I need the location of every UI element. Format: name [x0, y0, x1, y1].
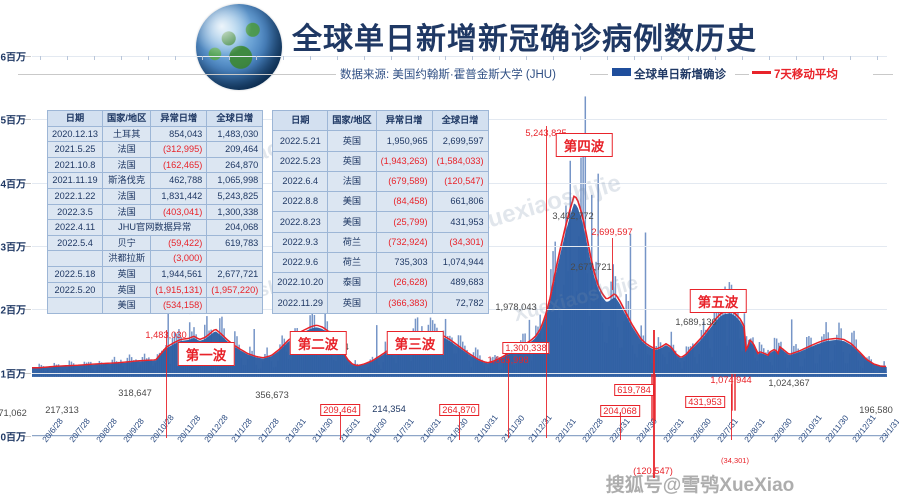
- table-row: 2022.8.23美国(25,799)431,953: [273, 212, 488, 232]
- cell-global: (1,584,033): [432, 151, 488, 171]
- cell-country: 英国: [328, 131, 376, 151]
- cell-country: 斯洛伐克: [102, 173, 150, 189]
- annotation-leader-line: [620, 412, 621, 440]
- data-annotation: 1,300,338: [502, 342, 549, 354]
- data-annotation: 214,354: [370, 404, 408, 414]
- cell-abnormal: (403,041): [151, 204, 207, 220]
- cell-country: 泰国: [328, 273, 376, 293]
- cell-abnormal: 1,944,561: [151, 266, 207, 282]
- cell-date: 2022.10.20: [273, 273, 328, 293]
- x-axis-tick: [472, 56, 473, 60]
- table-row: 洪都拉斯(3,000): [48, 251, 263, 267]
- table-row: 2022.1.22法国1,831,4425,243,825: [48, 188, 263, 204]
- x-axis-tick: [499, 56, 500, 60]
- y-axis-label: 1百万: [0, 365, 26, 380]
- data-annotation: 217,313: [45, 405, 79, 415]
- cell-abnormal: (3,000): [151, 251, 207, 267]
- cell-abnormal: 1,950,965: [376, 131, 432, 151]
- cell-country: 英国: [102, 266, 150, 282]
- table-row: 2022.10.20泰国(26,628)489,683: [273, 273, 488, 293]
- data-annotation: 196,580: [859, 405, 893, 415]
- annotation-leader-line: [459, 412, 460, 440]
- y-axis-label: 2百万: [0, 302, 26, 317]
- annotation-leader-line: [508, 358, 509, 438]
- cell-country: 法国: [102, 157, 150, 173]
- annotation-leader-line: [340, 412, 341, 440]
- cell-date: 2022.8.8: [273, 192, 328, 212]
- cell-country: 美国: [102, 298, 150, 314]
- data-annotation: 1,689,130: [675, 317, 716, 327]
- x-axis-tick: [580, 56, 581, 60]
- cell-abnormal: (366,383): [376, 293, 432, 313]
- data-annotation: 431,953: [685, 396, 725, 408]
- cell-abnormal: (312,995): [151, 142, 207, 158]
- x-axis-tick: [634, 56, 635, 60]
- cell-date: [48, 298, 103, 314]
- table-row: 2022.9.3荷兰(732,924)(34,301): [273, 232, 488, 252]
- table-row: 2022.5.20英国(1,915,131)(1,957,220): [48, 282, 263, 298]
- cell-abnormal: 735,303: [376, 252, 432, 272]
- table-row: 2022.5.4贝宁(59,422)619,783: [48, 235, 263, 251]
- cell-global: 264,870: [207, 157, 263, 173]
- cell-abnormal: (26,628): [376, 273, 432, 293]
- cell-date: 2022.5.23: [273, 151, 328, 171]
- table-header-row: 日期国家/地区异常日增全球日增: [273, 111, 488, 131]
- cell-country: 荷兰: [328, 232, 376, 252]
- cell-global: 1,300,338: [207, 204, 263, 220]
- cell-abnormal: (732,924): [376, 232, 432, 252]
- table-header-cell: 异常日增: [376, 111, 432, 131]
- data-annotation: 3,402,772: [552, 211, 593, 221]
- cell-date: 2022.8.23: [273, 212, 328, 232]
- data-annotation: 2,699,597: [591, 227, 632, 237]
- y-axis-label: 6百万: [0, 49, 26, 64]
- cell-date: 2022.11.29: [273, 293, 328, 313]
- cell-global: (34,301): [432, 232, 488, 252]
- wave-marker: 第五波: [690, 289, 747, 313]
- cell-country: 法国: [102, 142, 150, 158]
- annotation-leader-line: [546, 126, 547, 438]
- x-axis-tick: [40, 56, 41, 60]
- x-axis-tick: [283, 56, 284, 60]
- page-title: 全球单日新增新冠确诊病例数历史: [292, 14, 757, 58]
- cell-abnormal: (679,589): [376, 171, 432, 191]
- cell-abnormal: (1,943,263): [376, 151, 432, 171]
- cell-global: 209,464: [207, 142, 263, 158]
- gridline: [32, 56, 887, 57]
- x-axis-tick: [823, 56, 824, 60]
- wave-marker: 第四波: [556, 133, 613, 157]
- table-header-row: 日期国家/地区异常日增全球日增: [48, 111, 263, 127]
- table-row: 2022.11.29英国(366,383)72,782: [273, 293, 488, 313]
- cell-date: [48, 251, 103, 267]
- table-header-cell: 全球日增: [207, 111, 263, 127]
- cell-country: 法国: [102, 204, 150, 220]
- x-axis-tick: [175, 56, 176, 60]
- y-axis-label: 5百万: [0, 112, 26, 127]
- cell-abnormal: (25,799): [376, 212, 432, 232]
- cell-global: 5,243,825: [207, 188, 263, 204]
- cell-date: 2022.6.4: [273, 171, 328, 191]
- cell-global: 1,483,030: [207, 126, 263, 142]
- x-axis-tick: [769, 56, 770, 60]
- anomaly-tables: 日期国家/地区异常日增全球日增2020.12.13土耳其854,0431,483…: [47, 110, 489, 314]
- data-annotation: 1,024,367: [768, 378, 809, 388]
- cell-abnormal: (84,458): [376, 192, 432, 212]
- x-axis-tick: [688, 56, 689, 60]
- cell-country: 法国: [328, 171, 376, 191]
- cell-country: 美国: [328, 212, 376, 232]
- table-header-cell: 日期: [273, 111, 328, 131]
- cell-abnormal: 854,043: [151, 126, 207, 142]
- cell-abnormal: (59,422): [151, 235, 207, 251]
- x-axis-tick: [310, 56, 311, 60]
- x-axis-tick: [418, 56, 419, 60]
- cell-date: 2021.11.19: [48, 173, 103, 189]
- data-annotation: 356,673: [255, 390, 289, 400]
- cell-global: 2,677,721: [207, 266, 263, 282]
- cell-abnormal: (1,915,131): [151, 282, 207, 298]
- annotation-leader-line: [166, 330, 167, 438]
- cell-country: 美国: [328, 192, 376, 212]
- anomaly-table-left: 日期国家/地区异常日增全球日增2020.12.13土耳其854,0431,483…: [47, 110, 263, 314]
- y-axis-label: 3百万: [0, 239, 26, 254]
- wave-marker: 第二波: [290, 331, 347, 355]
- cell-note: JHU官网数据异常: [102, 220, 206, 236]
- data-annotation: 171,062: [0, 408, 27, 418]
- table-row: 2022.6.4法国(679,589)(120,547): [273, 171, 488, 191]
- cell-global: 1,065,998: [207, 173, 263, 189]
- cell-country: 法国: [102, 188, 150, 204]
- cell-date: 2022.9.3: [273, 232, 328, 252]
- cell-country: 英国: [102, 282, 150, 298]
- table-header-cell: 国家/地区: [328, 111, 376, 131]
- x-axis-tick: [94, 56, 95, 60]
- y-axis-label: 4百万: [0, 175, 26, 190]
- cell-date: 2021.10.8: [48, 157, 103, 173]
- cell-date: 2022.5.4: [48, 235, 103, 251]
- cell-global: (1,957,220): [207, 282, 263, 298]
- x-axis-tick: [607, 56, 608, 60]
- table-row: 2021.10.8法国(162,465)264,870: [48, 157, 263, 173]
- cell-date: 2022.9.6: [273, 252, 328, 272]
- table-row: 2022.5.23英国(1,943,263)(1,584,033): [273, 151, 488, 171]
- table-header-cell: 异常日增: [151, 111, 207, 127]
- table-row: 2022.4.11JHU官网数据异常204,068: [48, 220, 263, 236]
- cell-date: 2022.4.11: [48, 220, 103, 236]
- annotation-leader-line: [731, 384, 732, 440]
- cell-country: 贝宁: [102, 235, 150, 251]
- table-row: 2022.5.18英国1,944,5612,677,721: [48, 266, 263, 282]
- cell-abnormal: 462,788: [151, 173, 207, 189]
- cell-date: 2020.12.13: [48, 126, 103, 142]
- table-row: 2021.5.25法国(312,995)209,464: [48, 142, 263, 158]
- cell-country: 英国: [328, 293, 376, 313]
- table-row: 美国(534,158): [48, 298, 263, 314]
- x-axis-tick: [796, 56, 797, 60]
- cell-country: 英国: [328, 151, 376, 171]
- table-row: 2022.9.6荷兰735,3031,074,944: [273, 252, 488, 272]
- table-row: 2020.12.13土耳其854,0431,483,030: [48, 126, 263, 142]
- cell-date: 2022.1.22: [48, 188, 103, 204]
- x-axis-tick: [202, 56, 203, 60]
- x-axis-tick: [526, 56, 527, 60]
- y-axis-label: 0百万: [0, 429, 26, 444]
- x-axis-tick: [364, 56, 365, 60]
- cell-abnormal: (162,465): [151, 157, 207, 173]
- cell-global: 1,074,944: [432, 252, 488, 272]
- x-axis-tick: [148, 56, 149, 60]
- cell-global: [207, 298, 263, 314]
- cell-global: 489,683: [432, 273, 488, 293]
- cell-date: 2022.5.20: [48, 282, 103, 298]
- cell-date: 2022.5.18: [48, 266, 103, 282]
- table-row: 2021.11.19斯洛伐克462,7881,065,998: [48, 173, 263, 189]
- data-annotation: 1,978,043: [495, 302, 536, 312]
- anomaly-table-right: 日期国家/地区异常日增全球日增2022.5.21英国1,950,9652,699…: [272, 110, 488, 314]
- x-axis-tick: [256, 56, 257, 60]
- data-annotation: 619,784: [614, 384, 654, 396]
- x-axis-tick: [391, 56, 392, 60]
- cell-country: 荷兰: [328, 252, 376, 272]
- x-axis-tick: [67, 56, 68, 60]
- cell-date: 2022.5.21: [273, 131, 328, 151]
- x-axis-tick: [445, 56, 446, 60]
- x-axis-tick: [121, 56, 122, 60]
- cell-abnormal: (534,158): [151, 298, 207, 314]
- cell-country: 洪都拉斯: [102, 251, 150, 267]
- x-axis-tick: [877, 56, 878, 60]
- annotation-leader-line: [654, 330, 655, 478]
- wave-marker: 第三波: [387, 331, 444, 355]
- table-header-cell: 全球日增: [432, 111, 488, 131]
- cell-global: 431,953: [432, 212, 488, 232]
- annotation-leader-line: [612, 238, 613, 290]
- cell-abnormal: 1,831,442: [151, 188, 207, 204]
- data-annotation: (34,301): [721, 456, 749, 465]
- table-row: 2022.8.8美国(84,458)661,806: [273, 192, 488, 212]
- cell-global: 661,806: [432, 192, 488, 212]
- cell-global: 72,782: [432, 293, 488, 313]
- cell-date: 2021.5.25: [48, 142, 103, 158]
- x-axis-tick: [553, 56, 554, 60]
- table-header-cell: 日期: [48, 111, 103, 127]
- data-annotation: 318,647: [118, 388, 152, 398]
- table-row: 2022.5.21英国1,950,9652,699,597: [273, 131, 488, 151]
- x-axis-tick: [715, 56, 716, 60]
- cell-country: 土耳其: [102, 126, 150, 142]
- x-axis-tick: [661, 56, 662, 60]
- x-axis-tick: [229, 56, 230, 60]
- cell-date: 2022.3.5: [48, 204, 103, 220]
- x-axis-tick: [850, 56, 851, 60]
- x-axis-tick: [742, 56, 743, 60]
- cell-global: 619,783: [207, 235, 263, 251]
- table-header-cell: 国家/地区: [102, 111, 150, 127]
- x-axis-tick: [337, 56, 338, 60]
- cell-global: [207, 251, 263, 267]
- gridline: [32, 373, 887, 374]
- cell-global: (120,547): [432, 171, 488, 191]
- data-annotation: 2,677,721: [570, 262, 611, 272]
- cell-global: 204,068: [207, 220, 263, 236]
- table-row: 2022.3.5法国(403,041)1,300,338: [48, 204, 263, 220]
- cell-global: 2,699,597: [432, 131, 488, 151]
- wave-marker: 第一波: [178, 342, 235, 366]
